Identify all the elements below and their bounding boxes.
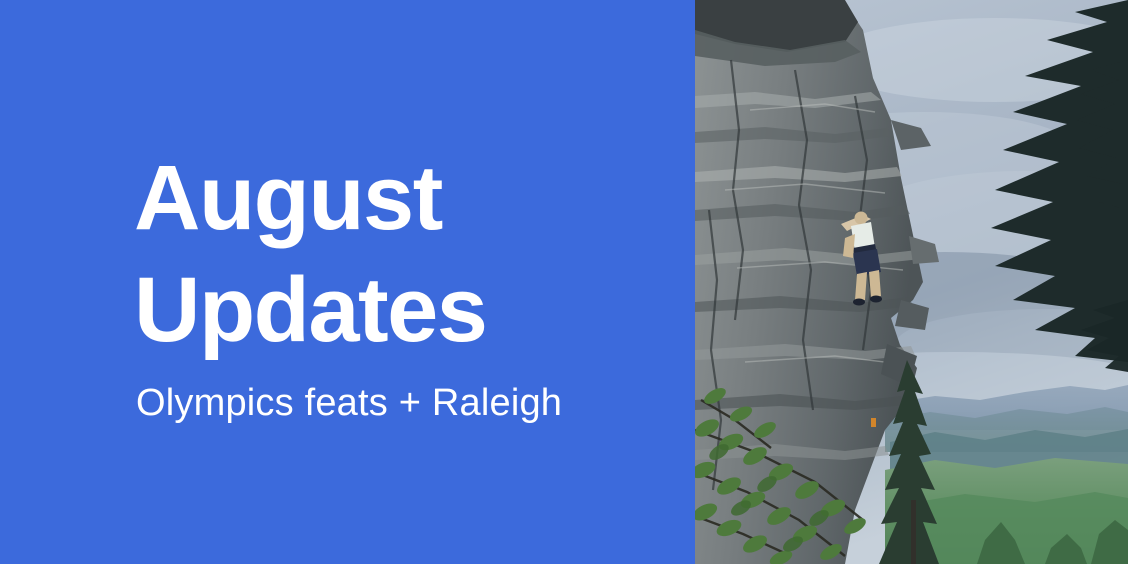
hero-photo	[695, 0, 1128, 564]
page-title: August Updates	[134, 142, 674, 366]
newsletter-banner: August Updates Olympics feats + Raleigh	[0, 0, 1128, 564]
tree-trunk	[911, 500, 916, 564]
cliff-climber-illustration	[695, 0, 1128, 564]
page-subtitle: Olympics feats + Raleigh	[136, 381, 562, 427]
climbing-gear-speck	[871, 418, 876, 427]
text-panel: August Updates Olympics feats + Raleigh	[0, 0, 695, 564]
